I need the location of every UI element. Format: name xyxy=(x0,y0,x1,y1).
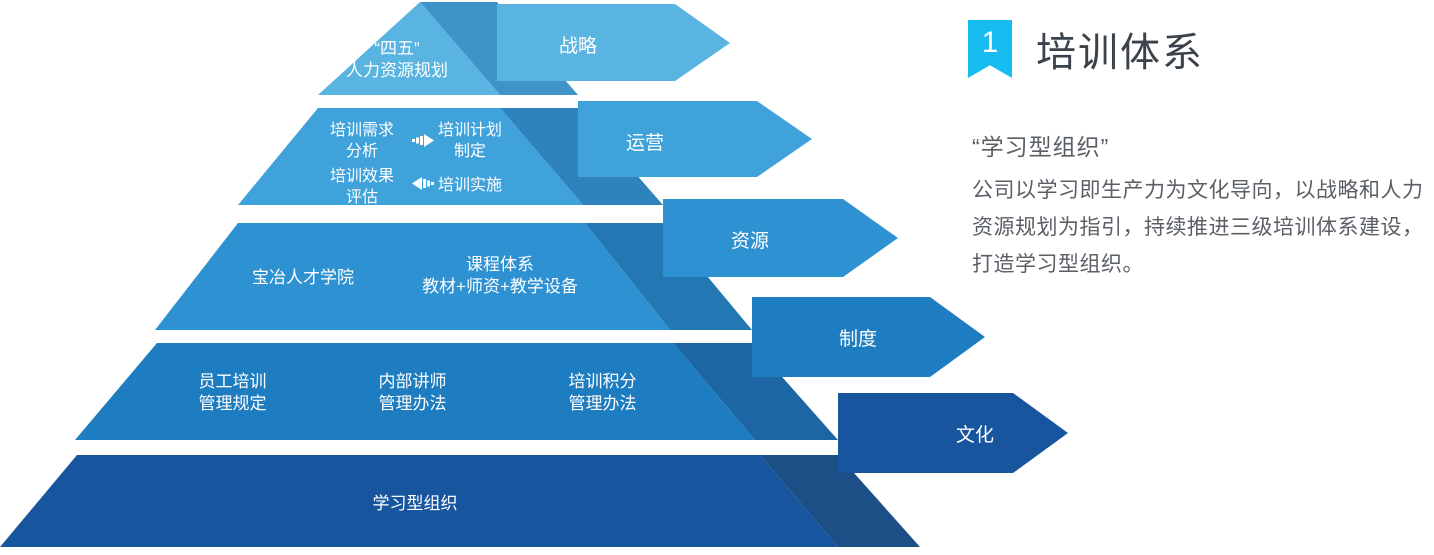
tier-systems-front xyxy=(75,343,755,440)
panel-body-text: 公司以学习即生产力为文化导向，以战略和人力资源规划为指引，持续推进三级培训体系建… xyxy=(972,172,1434,283)
tier-resources-front xyxy=(155,223,670,330)
arrow-label-strategy: 战略 xyxy=(498,31,658,58)
arrow-label-operations: 运营 xyxy=(565,128,725,155)
arrow-label-resources: 资源 xyxy=(670,226,830,253)
right-info-panel: 1 培训体系 “学习型组织” 公司以学习即生产力为文化导向，以战略和人力资源规划… xyxy=(968,0,1434,555)
slide-canvas: “四五” 人力资源规划 培训需求 分析 培训计划 制定 培训效果 评估 培训实施… xyxy=(0,0,1434,555)
arrow-left-icon xyxy=(412,177,434,193)
section-number-badge: 1 xyxy=(968,20,1012,78)
arrow-label-systems: 制度 xyxy=(778,324,938,351)
section-heading: 1 培训体系 xyxy=(968,20,1204,78)
pyramid-diagram xyxy=(0,0,1100,555)
badge-number-text: 1 xyxy=(982,20,999,66)
arrow-right-icon xyxy=(412,134,434,150)
page-title: 培训体系 xyxy=(1036,20,1204,78)
panel-subtitle: “学习型组织” xyxy=(972,128,1109,162)
tier-culture-front xyxy=(0,455,838,547)
